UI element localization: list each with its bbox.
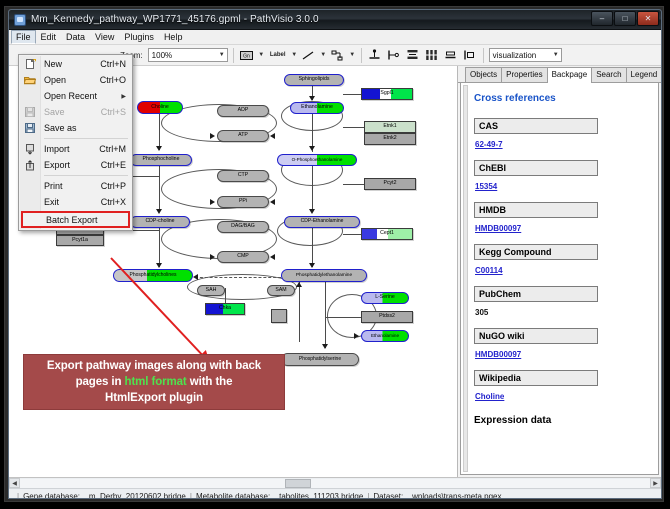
application-icon	[14, 14, 26, 26]
file-menu-label-save: Save	[44, 107, 65, 117]
status-metabolite-database: Metabolite database: ...tabolites_111203…	[196, 492, 363, 500]
arrowhead-icon	[296, 282, 302, 287]
scrollbar-track[interactable]	[20, 479, 650, 488]
status-separator: |	[190, 492, 192, 500]
line-icon[interactable]	[301, 47, 317, 63]
align-columns-icon[interactable]	[424, 47, 440, 63]
edge-ptdetn-to-ptdserine	[325, 282, 326, 348]
scroll-left-icon[interactable]: ◀	[9, 478, 20, 488]
menu-edit[interactable]: Edit	[36, 30, 62, 44]
xref-source-wikipedia: Wikipedia	[474, 370, 598, 386]
node-ppi[interactable]: PPi	[217, 196, 269, 208]
expression-data-heading: Expression data	[474, 415, 658, 426]
arrowhead-icon	[309, 146, 315, 151]
node-dag-bag[interactable]: DAG/BAG	[217, 221, 269, 233]
align-top-icon[interactable]	[367, 47, 383, 63]
toolbar-divider	[361, 48, 362, 63]
file-menu-item-exit[interactable]: Exit Ctrl+X	[19, 194, 132, 210]
zoom-value: 100%	[152, 51, 172, 60]
edge-choline-to-phosphocholine	[159, 114, 160, 150]
node-anchor-box[interactable]	[271, 309, 287, 323]
arrowhead-icon	[210, 199, 215, 205]
export-icon	[23, 159, 37, 172]
edge-cept1	[343, 234, 363, 235]
file-menu-label-exit: Exit	[44, 197, 59, 207]
file-menu-label-export: Export	[44, 160, 70, 170]
scrollbar-thumb[interactable]	[285, 479, 311, 488]
node-cdp-ethanolamine[interactable]: CDP-Ethanolamine	[284, 216, 360, 228]
side-panel-tabs[interactable]: Objects Properties Backpage Search Legen…	[458, 66, 661, 83]
zoom-select[interactable]: 100% ▼	[148, 48, 228, 62]
file-menu-accel-print: Ctrl+P	[101, 181, 126, 191]
xref-source-cas: CAS	[474, 118, 598, 134]
arrowhead-icon	[309, 209, 315, 214]
label-icon[interactable]: Label	[268, 47, 288, 63]
scroll-right-icon[interactable]: ▶	[650, 478, 661, 488]
visualization-value: visualization	[493, 51, 537, 60]
edge-phosphocholine-to-cdpcholine	[159, 166, 160, 212]
file-menu-item-save: Save Ctrl+S	[19, 104, 132, 120]
toolbar-divider	[483, 48, 484, 63]
label-button-text: Label	[270, 52, 286, 58]
node-ethanolamine-lower[interactable]: Ethanolamine	[361, 330, 409, 342]
label-dropdown-icon[interactable]: ▼	[291, 52, 298, 58]
file-menu-accel-open: Ctrl+O	[100, 75, 126, 85]
svg-text:Gn: Gn	[243, 53, 250, 59]
stack-icon[interactable]	[443, 47, 459, 63]
edge-ophospho-to-cdpetn	[312, 166, 313, 212]
tab-search[interactable]: Search	[591, 67, 626, 82]
node-ethanolamine-upper[interactable]: Ethanolamine	[290, 102, 344, 114]
file-menu-item-export[interactable]: Export Ctrl+E	[19, 157, 132, 173]
tab-properties[interactable]: Properties	[501, 67, 547, 82]
menu-plugins[interactable]: Plugins	[119, 30, 159, 44]
horizontal-scrollbar[interactable]: ◀ ▶	[9, 477, 661, 488]
xref-value-pubchem: 305	[475, 308, 488, 317]
file-menu-item-open[interactable]: Open Ctrl+O	[19, 72, 132, 88]
callout-highlight: html format	[125, 376, 187, 388]
window-titlebar[interactable]: Mm_Kennedy_pathway_WP1771_45176.gpml - P…	[9, 10, 661, 30]
arrowhead-icon	[210, 133, 215, 139]
xref-value-chebi[interactable]: 15354	[475, 182, 497, 191]
minimize-button[interactable]: –	[591, 11, 613, 26]
file-menu-separator	[44, 175, 128, 176]
backpage-panel[interactable]: Cross references CAS 62-49-7 ChEBI 15354…	[460, 83, 659, 475]
node-choline-top[interactable]: Choline	[137, 101, 183, 114]
menu-help[interactable]: Help	[159, 30, 188, 44]
callout-line-2b: with the	[187, 376, 233, 388]
node-atp[interactable]: ATP	[217, 130, 269, 142]
save-disk-icon	[23, 106, 37, 119]
annotation-callout: Export pathway images along with back pa…	[23, 354, 285, 410]
backpage-scrollbar[interactable]	[463, 85, 468, 472]
node-sphingolipids[interactable]: Sphingolipids	[284, 74, 344, 86]
file-menu-dropdown[interactable]: New Ctrl+N Open Ctrl+O Open Recent ▶ Sav…	[18, 54, 133, 231]
edge-etnk	[343, 127, 365, 128]
edge-cdpetn-to-ptdetn	[312, 228, 313, 267]
align-rows-icon[interactable]	[405, 47, 421, 63]
callout-line-1: Export pathway images along with back	[47, 360, 261, 372]
file-menu-accel-save: Ctrl+S	[101, 107, 126, 117]
edge-ptdserine-to-ptdetn	[299, 282, 300, 342]
align-left-icon[interactable]	[386, 47, 402, 63]
node-o-phosphoethanolamine[interactable]: O-Phosphoethanolamine	[277, 154, 357, 166]
annotation-callout-text: Export pathway images along with back pa…	[47, 358, 261, 406]
arrowhead-icon	[156, 209, 162, 214]
arrowhead-icon	[156, 146, 162, 151]
toolbar-divider	[233, 48, 234, 63]
edge-ptdss2	[325, 317, 363, 318]
close-button[interactable]: ✕	[637, 11, 659, 26]
window-title: Mm_Kennedy_pathway_WP1771_45176.gpml - P…	[31, 14, 319, 25]
arrowhead-icon	[270, 133, 275, 139]
node-phosphocholine[interactable]: Phosphocholine	[130, 154, 192, 166]
import-icon	[23, 143, 37, 156]
distribute-icon[interactable]	[462, 47, 478, 63]
file-menu-item-print[interactable]: Print Ctrl+P	[19, 178, 132, 194]
file-menu-label-print: Print	[44, 181, 63, 191]
status-separator: |	[367, 492, 369, 500]
node-gene-ptdss2[interactable]: Ptdss2	[361, 311, 413, 323]
maximize-button[interactable]: □	[614, 11, 636, 26]
file-menu-item-open-recent[interactable]: Open Recent ▶	[19, 88, 132, 104]
file-menu-item-import[interactable]: Import Ctrl+M	[19, 141, 132, 157]
node-gene-etnk2[interactable]: Etnk2	[364, 133, 416, 145]
save-as-icon	[23, 122, 37, 135]
pathvisio-application-window: Mm_Kennedy_pathway_WP1771_45176.gpml - P…	[8, 9, 662, 499]
menu-view[interactable]: View	[90, 30, 119, 44]
new-document-icon	[23, 58, 37, 71]
gene-product-icon[interactable]: Gn	[239, 47, 255, 63]
arrowhead-icon	[309, 96, 315, 101]
file-menu-item-new[interactable]: New Ctrl+N	[19, 56, 132, 72]
xref-value-nugo[interactable]: HMDB00097	[475, 350, 521, 359]
open-folder-icon	[23, 74, 37, 87]
file-menu-label-open: Open	[44, 75, 66, 85]
edge-sgpl1	[343, 94, 363, 95]
file-menu-accel-import: Ctrl+M	[99, 144, 126, 154]
node-ctp[interactable]: CTP	[217, 170, 269, 182]
menu-data[interactable]: Data	[61, 30, 90, 44]
backpage-title: Cross references	[474, 93, 658, 104]
callout-line-2a: pages in	[76, 376, 125, 388]
node-phosphatidylethanolamine[interactable]: Phosphatidylethanolamine	[281, 269, 367, 282]
node-adp[interactable]: ADP	[217, 105, 269, 117]
file-menu-label-batch-export: Batch Export	[46, 215, 98, 225]
node-gene-etnk1[interactable]: Etnk1	[364, 121, 416, 133]
interaction-icon[interactable]	[330, 47, 346, 63]
xref-value-hmdb[interactable]: HMDB00097	[475, 224, 521, 233]
file-menu-label-open-recent: Open Recent	[44, 91, 97, 101]
tab-objects[interactable]: Objects	[465, 67, 502, 82]
chevron-right-icon: ▶	[121, 93, 126, 100]
xref-source-hmdb: HMDB	[474, 202, 598, 218]
arrowhead-icon	[354, 333, 359, 339]
xref-source-nugo: NuGO wiki	[474, 328, 598, 344]
node-cdp-choline[interactable]: CDP-choline	[130, 216, 190, 228]
tab-legend[interactable]: Legend	[626, 67, 662, 82]
node-gene-sgpl1[interactable]: Sgpl1	[361, 88, 413, 100]
status-separator: |	[17, 492, 19, 500]
file-menu-item-save-as[interactable]: Save as	[19, 120, 132, 136]
gene-product-dropdown-icon[interactable]: ▼	[258, 52, 265, 58]
file-menu-accel-export: Ctrl+E	[101, 160, 126, 170]
xref-source-chebi: ChEBI	[474, 160, 598, 176]
file-menu-separator	[44, 138, 128, 139]
side-panel: Objects Properties Backpage Search Legen…	[458, 66, 661, 477]
node-gene-pcyt1a[interactable]: Pcyt1a	[56, 235, 104, 246]
chevron-down-icon: ▼	[553, 52, 559, 58]
menu-bar[interactable]: File Edit Data View Plugins Help	[9, 30, 661, 45]
arrowhead-icon	[270, 199, 275, 205]
xref-source-kegg: Kegg Compound	[474, 244, 598, 260]
file-menu-item-batch-export[interactable]: Batch Export	[21, 211, 130, 228]
node-phosphatidylserine[interactable]: Phosphatidylserine	[281, 353, 359, 366]
line-dropdown-icon[interactable]: ▼	[320, 52, 327, 58]
xref-value-cas[interactable]: 62-49-7	[475, 140, 503, 149]
node-gene-pcyt2[interactable]: Pcyt2	[364, 178, 416, 190]
file-menu-accel-new: Ctrl+N	[100, 59, 126, 69]
edge-pcyt2	[343, 184, 365, 185]
xref-value-kegg[interactable]: C00114	[475, 266, 503, 275]
file-menu-label-import: Import	[44, 144, 70, 154]
xref-value-wikipedia[interactable]: Choline	[475, 392, 504, 401]
status-bar: | Gene database: ...m_Derby_20120602.bri…	[9, 488, 661, 499]
window-controls[interactable]: – □ ✕	[591, 11, 659, 26]
xref-source-pubchem: PubChem	[474, 286, 598, 302]
callout-line-3: HtmlExport plugin	[105, 392, 203, 404]
node-sam[interactable]: SAM	[267, 285, 295, 296]
desktop-background: Mm_Kennedy_pathway_WP1771_45176.gpml - P…	[0, 0, 670, 509]
arrowhead-icon	[322, 344, 328, 349]
tab-backpage[interactable]: Backpage	[547, 67, 593, 83]
chevron-down-icon: ▼	[219, 52, 225, 58]
file-menu-label-new: New	[44, 59, 62, 69]
file-menu-accel-exit: Ctrl+X	[101, 197, 126, 207]
visualization-select[interactable]: visualization ▼	[489, 48, 562, 62]
status-dataset: Dataset: ...wnloads\trans-meta.pgex	[373, 492, 501, 500]
menu-file[interactable]: File	[11, 30, 36, 44]
file-menu-label-save-as: Save as	[44, 123, 77, 133]
node-l-serine[interactable]: L-Serine	[361, 292, 409, 304]
arrowhead-icon	[270, 254, 275, 260]
arrowhead-icon	[309, 263, 315, 268]
status-gene-database: Gene database: ...m_Derby_20120602.bridg…	[23, 492, 186, 500]
node-gene-cept1[interactable]: Cept1	[361, 228, 413, 240]
interaction-dropdown-icon[interactable]: ▼	[349, 52, 356, 58]
